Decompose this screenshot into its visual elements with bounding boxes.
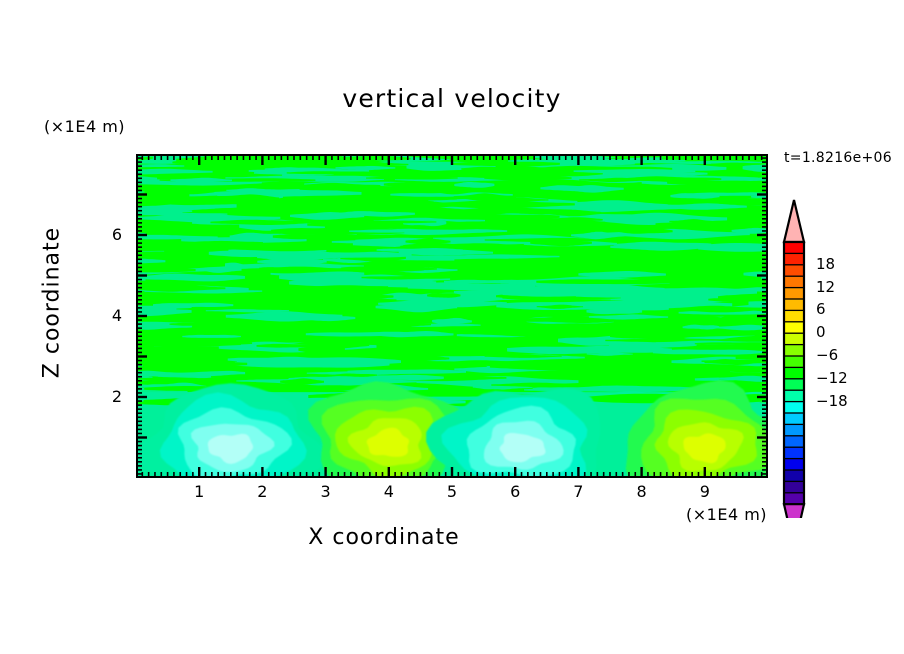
y-tick-label: 2 xyxy=(96,387,122,406)
x-tick-label: 5 xyxy=(437,482,467,501)
x-axis-unit-label: (×1E4 m) xyxy=(686,505,767,524)
x-tick-label: 6 xyxy=(500,482,530,501)
x-tick-label: 3 xyxy=(311,482,341,501)
colorbar-tick-label: 12 xyxy=(816,278,835,296)
colorbar-tick-label: −12 xyxy=(816,369,848,387)
page-title: vertical velocity xyxy=(0,84,904,113)
timestamp-annotation: t=1.8216e+06 xyxy=(784,150,892,166)
x-tick-label: 4 xyxy=(374,482,404,501)
colorbar-tick-label: −18 xyxy=(816,392,848,410)
x-tick-label: 8 xyxy=(627,482,657,501)
x-axis-label: X coordinate xyxy=(0,525,768,550)
x-tick-label: 2 xyxy=(247,482,277,501)
colorbar-tick-label: 18 xyxy=(816,255,835,273)
y-tick-label: 4 xyxy=(96,306,122,325)
axis-ticks xyxy=(136,154,768,478)
colorbar-tick-label: 6 xyxy=(816,300,826,318)
x-tick-label: 7 xyxy=(563,482,593,501)
colorbar-tick-label: −6 xyxy=(816,346,838,364)
y-axis-unit-label: (×1E4 m) xyxy=(44,117,125,136)
x-tick-label: 9 xyxy=(690,482,720,501)
colorbar-tick-label: 0 xyxy=(816,323,826,341)
y-axis-label: Z coordinate xyxy=(40,223,65,383)
colorbar[interactable] xyxy=(780,198,816,518)
y-tick-label: 6 xyxy=(96,225,122,244)
x-tick-label: 1 xyxy=(184,482,214,501)
